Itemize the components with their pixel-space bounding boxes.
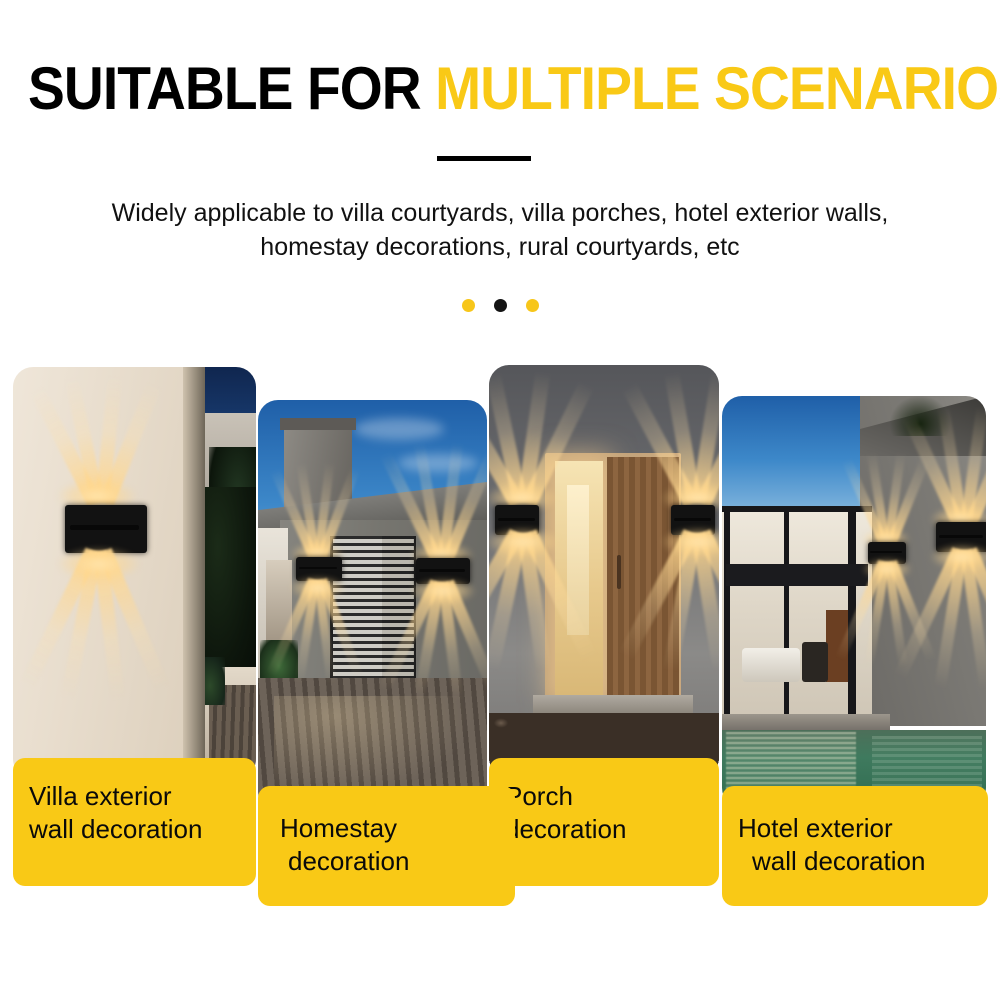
hotel-mullion-v2 (784, 506, 789, 720)
hotel-interior-table (802, 642, 828, 682)
caption-villa-line-1: Villa exterior (29, 780, 242, 813)
subtitle: Widely applicable to villa courtyards, v… (0, 196, 1000, 264)
headline-part-base: SUITABLE FOR (28, 55, 435, 122)
hotel-mullion-v3 (848, 506, 856, 720)
hotel-lamp-near-glow-down (930, 544, 986, 570)
porch-interior-light (567, 485, 589, 635)
scenario-image-hotel (722, 396, 986, 808)
page-title: SUITABLE FOR MULTIPLE SCENARIOS (28, 58, 902, 120)
scenario-image-villa (13, 367, 256, 779)
wall-lamp-fixture (65, 505, 147, 553)
caption-homestay: Homestay decoration (258, 786, 515, 906)
caption-villa: Villa exterior wall decoration (13, 758, 256, 886)
hotel-scene (722, 396, 986, 808)
hotel-interior-sofa (742, 648, 800, 682)
caption-porch: Porch decoration (489, 758, 719, 886)
caption-porch-line-2: decoration (505, 813, 705, 846)
homestay-cloud-1 (354, 418, 444, 440)
homestay-cloud-2 (398, 454, 478, 472)
villa-glow-down (57, 547, 141, 581)
hotel-mullion-h1 (722, 506, 872, 512)
porch-door-handle (617, 555, 621, 589)
title-divider (437, 156, 531, 161)
carousel-dot-2-active[interactable] (494, 299, 507, 312)
hotel-background-tree (890, 396, 950, 436)
carousel-dot-3[interactable] (526, 299, 539, 312)
hotel-sky (722, 396, 882, 512)
hotel-interior-door (826, 610, 848, 682)
carousel-dots[interactable] (0, 299, 1000, 312)
villa-scene (13, 367, 256, 779)
homestay-interior-glimpse (266, 560, 292, 650)
product-feature-page: SUITABLE FOR MULTIPLE SCENARIOS Widely a… (0, 0, 1000, 1000)
villa-wall-edge (183, 367, 205, 779)
hotel-floor-divider (726, 564, 868, 586)
subtitle-line-1: Widely applicable to villa courtyards, v… (112, 199, 889, 227)
homestay-lamp-b-glow-down (410, 578, 476, 604)
caption-villa-line-2: wall decoration (29, 813, 242, 846)
caption-hotel-line-2: wall decoration (738, 845, 974, 878)
scenario-image-porch (489, 365, 719, 777)
homestay-deck-light-pool (274, 696, 474, 796)
hotel-lamp-far-glow-down (862, 558, 912, 580)
subtitle-line-2: homestay decorations, rural courtyards, … (0, 230, 1000, 264)
caption-homestay-line-1: Homestay (274, 812, 501, 845)
homestay-chimney-cap (280, 418, 356, 430)
homestay-lamp-a-glow-down (290, 576, 346, 600)
homestay-scene (258, 400, 487, 812)
caption-hotel-line-1: Hotel exterior (738, 812, 974, 845)
scenario-image-homestay (258, 400, 487, 812)
carousel-dot-1[interactable] (462, 299, 475, 312)
caption-porch-line-1: Porch (505, 780, 705, 813)
headline-part-accent: MULTIPLE SCENARIOS (435, 55, 1000, 122)
caption-homestay-line-2: decoration (274, 845, 501, 878)
caption-hotel: Hotel exterior wall decoration (722, 786, 988, 906)
hotel-mullion-v1 (724, 506, 730, 720)
porch-scene (489, 365, 719, 777)
